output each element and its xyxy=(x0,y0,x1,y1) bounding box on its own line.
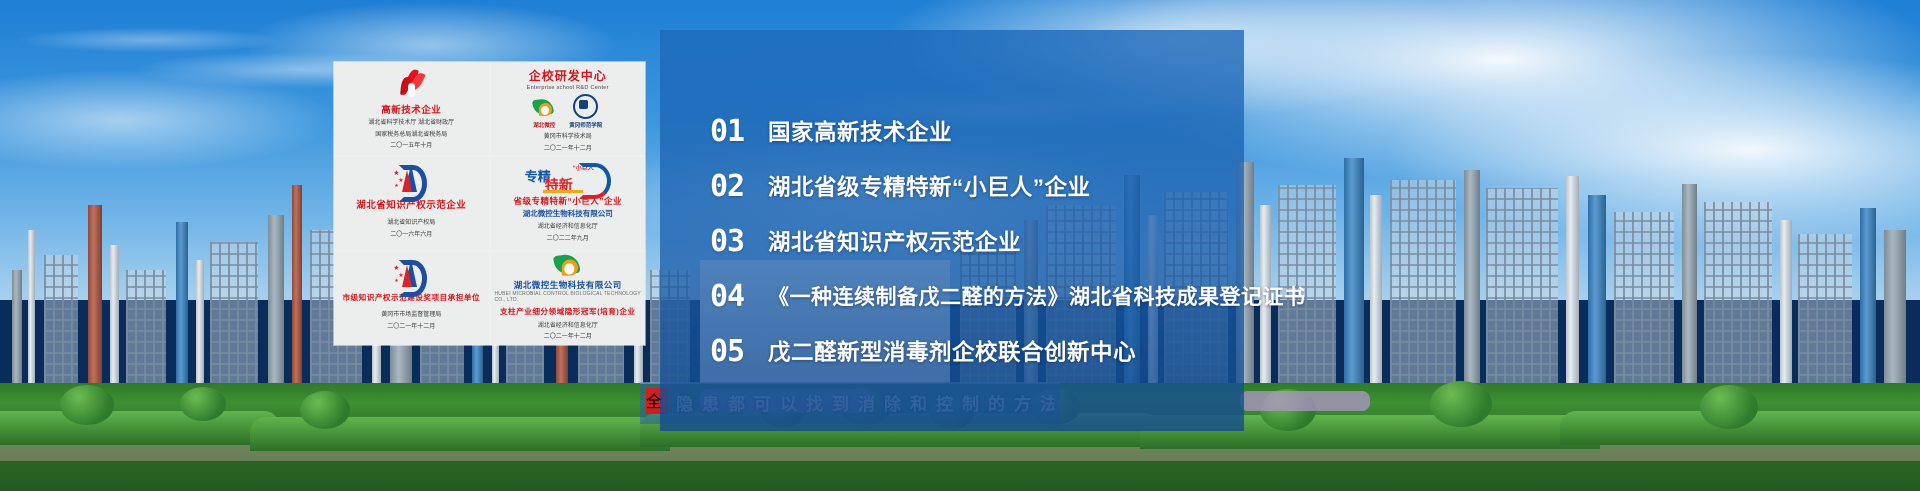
item-label: 国家高新技术企业 xyxy=(768,115,952,147)
certificate-title: 湖北微控生物科技有限公司 xyxy=(514,279,622,291)
list-item[interactable]: 03 湖北省知识产权示范企业 xyxy=(710,218,1234,264)
certificate-grid: 高新技术企业 湖北省科学技术厅 湖北省财政厅 国家税务总局湖北省税务局 二〇一五… xyxy=(334,62,645,345)
highlights-list: 01 国家高新技术企业 02 湖北省级专精特新“小巨人”企业 03 湖北省知识产… xyxy=(710,108,1234,383)
certificate-title: 省级专精特新“小巨人”企业 xyxy=(513,195,622,207)
certificate-card[interactable]: 企校研发中心 Enterprise school R&D Center 湖北微控… xyxy=(491,62,646,155)
certificate-issuer-line1: 黄冈市科学技术局 xyxy=(544,133,592,142)
certificate-card[interactable]: 湖北微控生物科技有限公司 HUBEI MICROBIAL CONTROL BIO… xyxy=(491,252,646,345)
certificate-date: 二〇二一年十二月 xyxy=(544,145,592,154)
certificate-issuer-line1: 黄冈市市场监督管理局 xyxy=(381,311,441,320)
ip-star-p-emblem-icon: ★ ★ ★ xyxy=(393,162,429,196)
certificate-title: 企校研发中心 xyxy=(529,67,607,84)
highlights-panel: 01 国家高新技术企业 02 湖北省级专精特新“小巨人”企业 03 湖北省知识产… xyxy=(660,30,1244,431)
certificate-company: 湖北微控生物科技有限公司 xyxy=(523,208,613,219)
partner-right-label: 黄冈师范学院 xyxy=(569,121,602,129)
certificate-issuer-line1: 湖北省经济和信息化厅 xyxy=(538,223,598,232)
certificate-issuer-line1: 湖北省科学技术厅 湖北省财政厅 xyxy=(368,119,454,128)
ip-star-p-emblem-icon: ★ ★ ★ xyxy=(393,257,429,291)
item-label: 湖北省知识产权示范企业 xyxy=(768,225,1021,257)
item-label: 《一种连续制备戊二醛的方法》湖北省科技成果登记证书 xyxy=(768,281,1306,311)
certificate-issuer-line1: 湖北省经济和信息化厅 xyxy=(538,322,598,331)
certificate-date: 二〇一五年十月 xyxy=(390,142,432,151)
certificate-subtitle: 支柱产业细分领域隐形冠军(培育)企业 xyxy=(500,306,636,317)
certificate-date: 二〇二一年十二月 xyxy=(544,333,592,342)
leaf-emblem-icon xyxy=(533,99,555,119)
certificate-card[interactable]: 专精 “小巨人” 特新 省级专精特新“小巨人”企业 湖北微控生物科技有限公司 湖… xyxy=(491,157,646,250)
certificate-issuer-line1: 湖北省知识产权局 xyxy=(387,219,435,228)
certificate-title-en: HUBEI MICROBIAL CONTROL BIOLOGICAL TECHN… xyxy=(495,291,642,303)
banner-stage: 全 隐患都可以找到消除和控制的方法 01 国家高新技术企业 02 湖北省级专精特… xyxy=(0,0,1920,491)
company-leaf-emblem-icon xyxy=(557,257,579,278)
list-item[interactable]: 02 湖北省级专精特新“小巨人”企业 xyxy=(710,163,1234,209)
certificate-date: 二〇一六年六月 xyxy=(390,231,432,240)
list-item[interactable]: 05 戊二醛新型消毒剂企校联合创新中心 xyxy=(710,328,1234,374)
partner-logos: 湖北微控 黄冈师范学院 xyxy=(533,94,602,129)
list-item[interactable]: 04 《一种连续制备戊二醛的方法》湖北省科技成果登记证书 xyxy=(710,273,1234,319)
item-number: 03 xyxy=(710,224,768,259)
certificate-card[interactable]: 高新技术企业 湖北省科学技术厅 湖北省财政厅 国家税务总局湖北省税务局 二〇一五… xyxy=(334,62,489,155)
certificate-issuer-line2: 国家税务总局湖北省税务局 xyxy=(375,131,447,140)
certificate-title: 高新技术企业 xyxy=(381,102,441,116)
item-number: 04 xyxy=(710,279,768,314)
certificate-card[interactable]: ★ ★ ★ 市级知识产权示范建设奖项目承担单位 黄冈市市场监督管理局 二〇二一年… xyxy=(334,252,489,345)
university-seal-icon xyxy=(573,94,598,119)
specialized-new-emblem-icon: 专精 “小巨人” 特新 xyxy=(525,162,611,194)
certificate-date: 二〇二一年十二月 xyxy=(387,323,435,332)
certificate-card[interactable]: ★ ★ ★ 湖北省知识产权示范企业 湖北省知识产权局 二〇一六年六月 xyxy=(334,157,489,250)
certificate-title-en: Enterprise school R&D Center xyxy=(527,85,609,91)
flame-emblem-icon xyxy=(398,67,424,101)
item-number: 01 xyxy=(710,114,768,149)
partner-left-label: 湖北微控 xyxy=(533,121,555,129)
item-label: 戊二醛新型消毒剂企校联合创新中心 xyxy=(768,335,1136,367)
list-item[interactable]: 01 国家高新技术企业 xyxy=(710,108,1234,154)
item-number: 02 xyxy=(710,169,768,204)
item-number: 05 xyxy=(710,334,768,369)
certificate-date: 二〇二二年九月 xyxy=(547,235,589,244)
item-label: 湖北省级专精特新“小巨人”企业 xyxy=(768,170,1091,202)
